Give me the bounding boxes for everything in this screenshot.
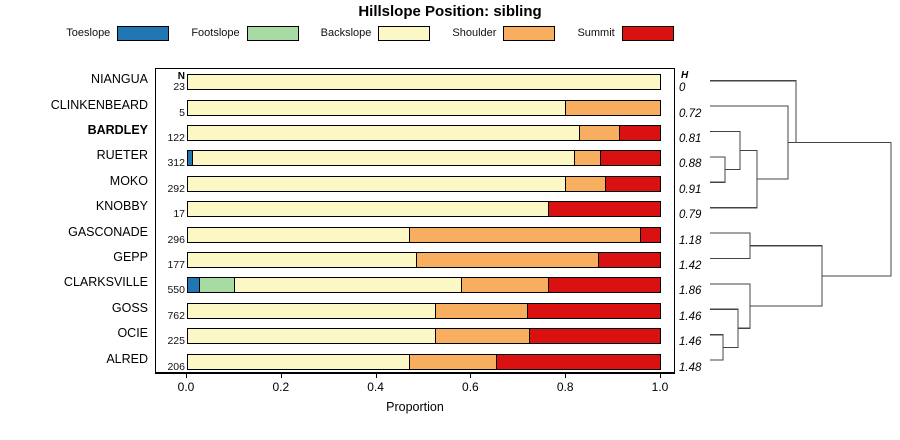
legend-item: Summit <box>577 26 673 41</box>
bar-row: 762 <box>156 302 676 327</box>
legend-label: Shoulder <box>452 28 496 39</box>
y-axis-label: MOKO <box>0 175 148 188</box>
y-axis-label: CLINKENBEARD <box>0 99 148 112</box>
stacked-bar[interactable] <box>187 277 661 293</box>
x-axis-tick-label: 0.4 <box>356 380 396 394</box>
bar-segment-summit[interactable] <box>606 177 660 191</box>
legend-swatch <box>378 26 430 41</box>
bar-row: 550 <box>156 276 676 301</box>
n-value: 550 <box>156 285 185 296</box>
legend-swatch <box>503 26 555 41</box>
dendrogram <box>700 68 895 373</box>
bar-row: 296 <box>156 226 676 251</box>
chart-root: Hillslope Position: sibling ToeslopeFoot… <box>0 0 900 440</box>
bar-segment-backslope[interactable] <box>188 228 410 242</box>
bar-segment-summit[interactable] <box>601 151 660 165</box>
stacked-bar[interactable] <box>187 201 661 217</box>
y-axis-label: KNOBBY <box>0 200 148 213</box>
legend-label: Footslope <box>191 28 239 39</box>
n-value: 312 <box>156 158 185 169</box>
legend-label: Summit <box>577 28 614 39</box>
stacked-bar[interactable] <box>187 100 661 116</box>
legend-item: Toeslope <box>66 26 169 41</box>
bar-segment-shoulder[interactable] <box>436 304 528 318</box>
y-axis-label: ALRED <box>0 353 148 366</box>
bar-row: 17 <box>156 200 676 225</box>
bar-segment-summit[interactable] <box>620 126 660 140</box>
bar-segment-shoulder[interactable] <box>410 228 641 242</box>
bar-segment-summit[interactable] <box>497 355 660 369</box>
x-axis-tick <box>565 373 566 378</box>
y-axis-labels: NIANGUACLINKENBEARDBARDLEYRUETERMOKOKNOB… <box>0 68 150 373</box>
stacked-bar[interactable] <box>187 176 661 192</box>
bar-segment-summit[interactable] <box>599 253 660 267</box>
y-axis-label: GOSS <box>0 302 148 315</box>
bar-segment-summit[interactable] <box>549 202 660 216</box>
legend-swatch <box>117 26 169 41</box>
stacked-bar[interactable] <box>187 150 661 166</box>
x-axis-tick <box>376 373 377 378</box>
bar-row: 225 <box>156 327 676 352</box>
bar-segment-summit[interactable] <box>549 278 660 292</box>
legend-item: Backslope <box>321 26 431 41</box>
legend-label: Toeslope <box>66 28 110 39</box>
bar-segment-shoulder[interactable] <box>575 151 601 165</box>
bar-segment-summit[interactable] <box>641 228 660 242</box>
stacked-bar[interactable] <box>187 303 661 319</box>
bar-segment-shoulder[interactable] <box>462 278 549 292</box>
bar-segment-backslope[interactable] <box>188 253 417 267</box>
stacked-bar[interactable] <box>187 328 661 344</box>
n-value: 296 <box>156 235 185 246</box>
x-axis-tick <box>660 373 661 378</box>
bar-row: 122 <box>156 124 676 149</box>
bar-row: 177 <box>156 251 676 276</box>
bar-segment-backslope[interactable] <box>188 177 566 191</box>
x-axis-tick <box>281 373 282 378</box>
bar-row: 23 <box>156 73 676 98</box>
stacked-bar[interactable] <box>187 227 661 243</box>
legend-item: Shoulder <box>452 26 555 41</box>
stacked-bar[interactable] <box>187 74 661 90</box>
y-axis-label: OCIE <box>0 327 148 340</box>
x-axis-tick <box>186 373 187 378</box>
bar-segment-backslope[interactable] <box>188 202 549 216</box>
bar-row: 312 <box>156 149 676 174</box>
x-axis-title: Proportion <box>155 400 675 414</box>
y-axis-label: BARDLEY <box>0 124 148 137</box>
bar-segment-footslope[interactable] <box>200 278 235 292</box>
x-axis-line <box>155 373 675 374</box>
bar-segment-backslope[interactable] <box>188 75 660 89</box>
stacked-bar-panel: N 23512231229217296177550762225206 <box>155 68 675 373</box>
stacked-bar[interactable] <box>187 252 661 268</box>
bar-segment-shoulder[interactable] <box>566 177 606 191</box>
bar-segment-backslope[interactable] <box>193 151 575 165</box>
bar-row: 292 <box>156 175 676 200</box>
bar-segment-summit[interactable] <box>528 304 660 318</box>
n-value: 17 <box>156 209 185 220</box>
x-axis-tick-label: 0.0 <box>166 380 206 394</box>
bar-segment-backslope[interactable] <box>188 329 436 343</box>
n-value: 762 <box>156 311 185 322</box>
legend-swatch <box>247 26 299 41</box>
chart-title: Hillslope Position: sibling <box>0 3 900 20</box>
y-axis-label: NIANGUA <box>0 73 148 86</box>
stacked-bar[interactable] <box>187 125 661 141</box>
legend: ToeslopeFootslopeBackslopeShoulderSummit <box>0 26 740 41</box>
bar-segment-backslope[interactable] <box>235 278 462 292</box>
y-axis-label: GEPP <box>0 251 148 264</box>
n-value: 206 <box>156 362 185 373</box>
x-axis-tick-label: 0.8 <box>545 380 585 394</box>
bar-segment-shoulder[interactable] <box>417 253 599 267</box>
legend-item: Footslope <box>191 26 298 41</box>
stacked-bar[interactable] <box>187 354 661 370</box>
y-axis-label: CLARKSVILLE <box>0 276 148 289</box>
legend-label: Backslope <box>321 28 372 39</box>
n-value: 5 <box>156 108 185 119</box>
bar-segment-summit[interactable] <box>530 329 660 343</box>
n-value: 122 <box>156 133 185 144</box>
x-axis-tick-label: 1.0 <box>640 380 680 394</box>
bar-segment-shoulder[interactable] <box>580 126 620 140</box>
bar-segment-backslope[interactable] <box>188 355 410 369</box>
x-axis-tick <box>470 373 471 378</box>
n-value: 23 <box>156 82 185 93</box>
bar-segment-backslope[interactable] <box>188 126 580 140</box>
n-value: 225 <box>156 336 185 347</box>
dendrogram-svg <box>700 68 895 373</box>
n-value: 177 <box>156 260 185 271</box>
y-axis-label: GASCONADE <box>0 226 148 239</box>
legend-swatch <box>622 26 674 41</box>
bar-segment-shoulder[interactable] <box>410 355 497 369</box>
bar-row: 5 <box>156 99 676 124</box>
x-axis-tick-label: 0.6 <box>450 380 490 394</box>
y-axis-label: RUETER <box>0 149 148 162</box>
bar-segment-backslope[interactable] <box>188 101 566 115</box>
bar-segment-toeslope[interactable] <box>188 278 200 292</box>
bar-segment-shoulder[interactable] <box>566 101 660 115</box>
n-value: 292 <box>156 184 185 195</box>
x-axis-tick-label: 0.2 <box>261 380 301 394</box>
bar-segment-shoulder[interactable] <box>436 329 530 343</box>
bar-segment-backslope[interactable] <box>188 304 436 318</box>
